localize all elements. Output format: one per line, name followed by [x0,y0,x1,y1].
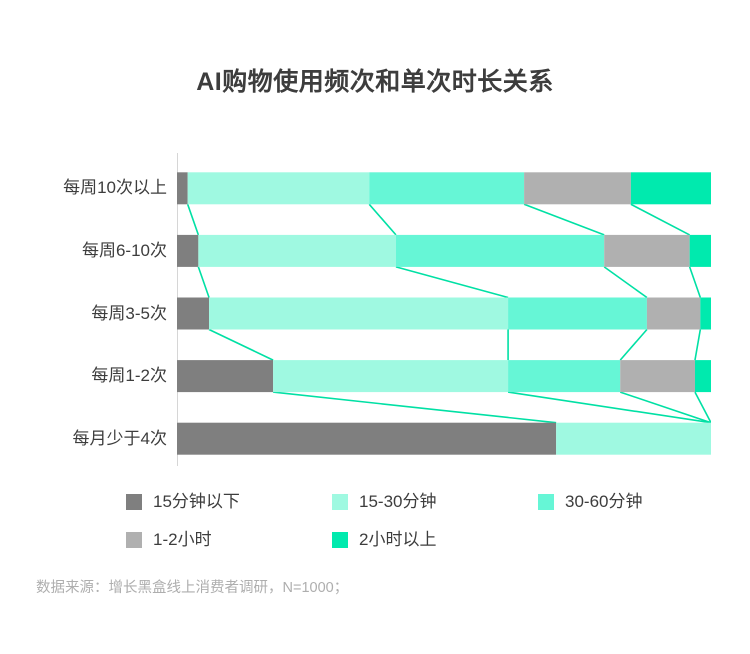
flow-connector-line [631,204,690,235]
legend-label: 2小时以上 [359,530,436,550]
flow-connector-line [524,204,604,235]
legend-swatch-icon [332,494,348,510]
bar-row [177,423,711,455]
legend-item[interactable]: 2小时以上 [332,530,436,550]
legend-item[interactable]: 15分钟以下 [126,492,240,512]
flow-connector-line [396,267,508,298]
bar-row [177,298,711,330]
bar-segment[interactable] [188,172,370,204]
stacked-bar-svg [177,153,711,466]
flow-connector-line [188,204,199,235]
flow-connector-line [690,267,701,298]
bar-segment[interactable] [631,172,711,204]
bar-segment[interactable] [273,360,508,392]
bar-row [177,235,711,267]
bar-segment[interactable] [177,172,188,204]
flow-connector-line [695,330,700,361]
bar-segment[interactable] [369,172,524,204]
bar-segment[interactable] [695,360,711,392]
flow-connector-line [369,204,396,235]
bar-segment[interactable] [209,298,508,330]
category-label: 每周3-5次 [7,303,167,325]
bar-segment[interactable] [508,298,647,330]
legend-swatch-icon [126,532,142,548]
flow-connector-line [604,267,647,298]
bar-segment[interactable] [177,298,209,330]
legend-swatch-icon [332,532,348,548]
plot-area [177,153,711,466]
bar-row [177,360,711,392]
flow-connector-line [198,267,209,298]
bar-segment[interactable] [700,298,711,330]
data-source-note: 数据来源：增长黑盒线上消费者调研，N=1000； [36,578,348,598]
legend-label: 15分钟以下 [153,492,240,512]
legend-label: 15-30分钟 [359,492,436,512]
bar-segment[interactable] [620,360,695,392]
legend-swatch-icon [538,494,554,510]
flow-connector-line [620,330,647,361]
category-label: 每月少于4次 [7,428,167,450]
bar-segment[interactable] [177,360,273,392]
category-label: 每周6-10次 [7,240,167,262]
legend-item[interactable]: 15-30分钟 [332,492,436,512]
bar-segment[interactable] [647,298,700,330]
bar-row [177,172,711,204]
bar-segment[interactable] [198,235,396,267]
chart-container: AI购物使用频次和单次时长关系 每周10次以上每周6-10次每周3-5次每周1-… [0,0,750,654]
legend-item[interactable]: 1-2小时 [126,530,212,550]
bar-segment[interactable] [177,423,556,455]
category-axis-labels: 每周10次以上每周6-10次每周3-5次每周1-2次每月少于4次 [0,153,167,466]
bar-segment[interactable] [604,235,689,267]
bar-segment[interactable] [508,360,620,392]
bar-segment[interactable] [556,423,711,455]
chart-title: AI购物使用频次和单次时长关系 [0,66,750,98]
legend-label: 30-60分钟 [565,492,642,512]
flow-connector-line [209,330,273,361]
bar-segment[interactable] [396,235,604,267]
legend-label: 1-2小时 [153,530,212,550]
bar-segment[interactable] [690,235,711,267]
flow-connector-line [508,392,711,423]
bar-segment[interactable] [177,235,198,267]
bar-segment[interactable] [524,172,631,204]
chart-legend: 15分钟以下15-30分钟30-60分钟1-2小时2小时以上 [126,492,726,560]
flow-connector-line [273,392,556,423]
category-label: 每周1-2次 [7,365,167,387]
category-label: 每周10次以上 [7,177,167,199]
legend-item[interactable]: 30-60分钟 [538,492,642,512]
legend-swatch-icon [126,494,142,510]
